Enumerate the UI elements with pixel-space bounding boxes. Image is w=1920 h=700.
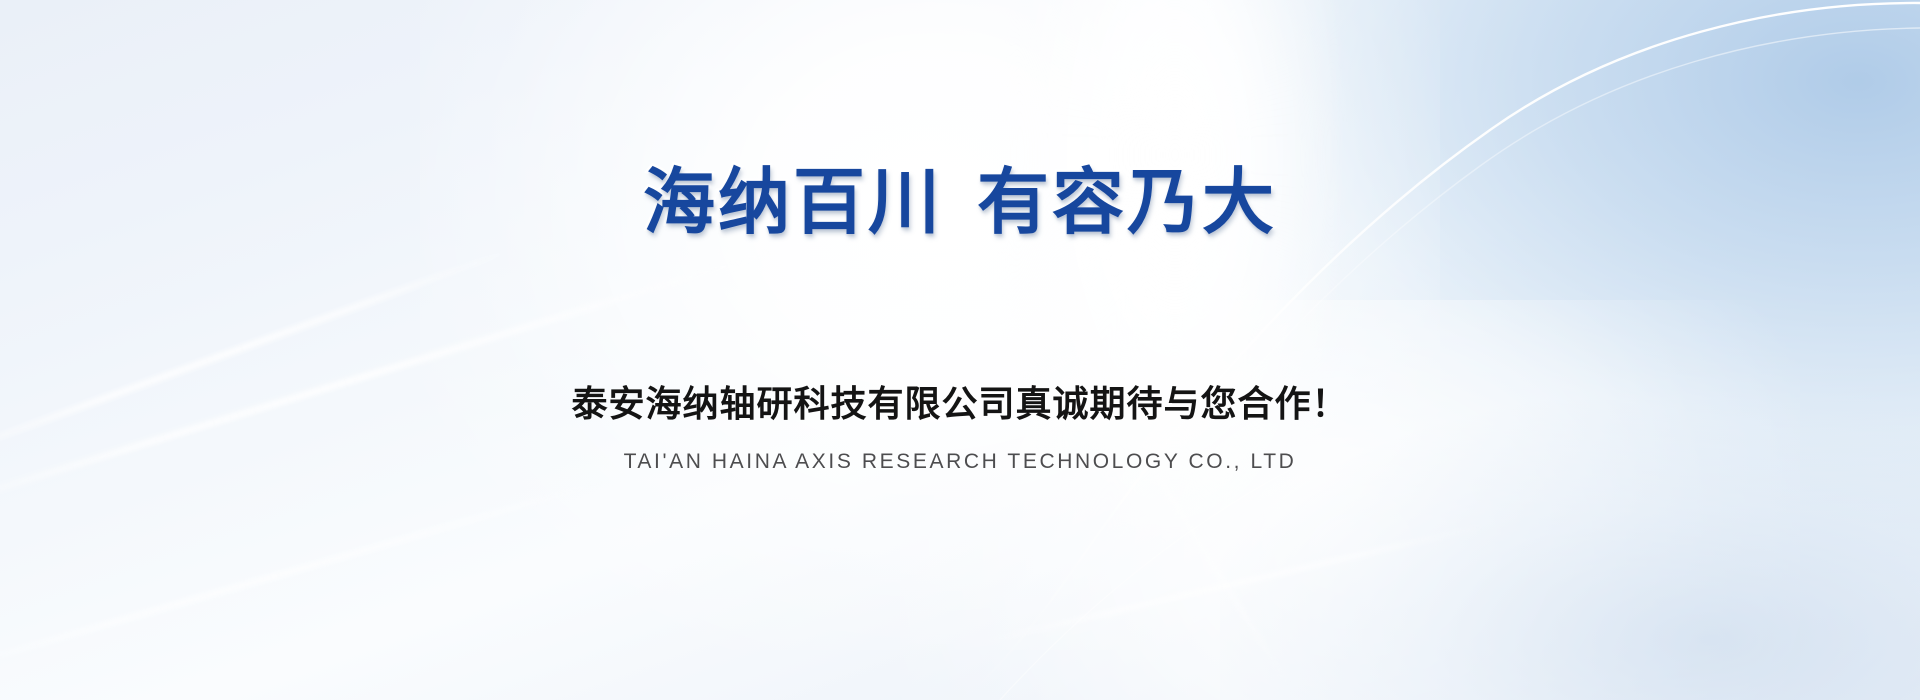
banner-content: 海纳百川有容乃大 泰安海纳轴研科技有限公司真诚期待与您合作！ TAI'AN HA… (0, 0, 1920, 700)
headline-part-1: 海纳百川 (643, 160, 943, 244)
headline-part-2: 有容乃大 (977, 160, 1277, 244)
banner-subtitle-chinese: 泰安海纳轴研科技有限公司真诚期待与您合作！ (0, 382, 1920, 427)
banner-headline: 海纳百川有容乃大 (0, 166, 1920, 238)
hero-banner: 海纳百川有容乃大 泰安海纳轴研科技有限公司真诚期待与您合作！ TAI'AN HA… (0, 0, 1920, 700)
banner-subtitle-english: TAI'AN HAINA AXIS RESEARCH TECHNOLOGY CO… (0, 448, 1920, 475)
